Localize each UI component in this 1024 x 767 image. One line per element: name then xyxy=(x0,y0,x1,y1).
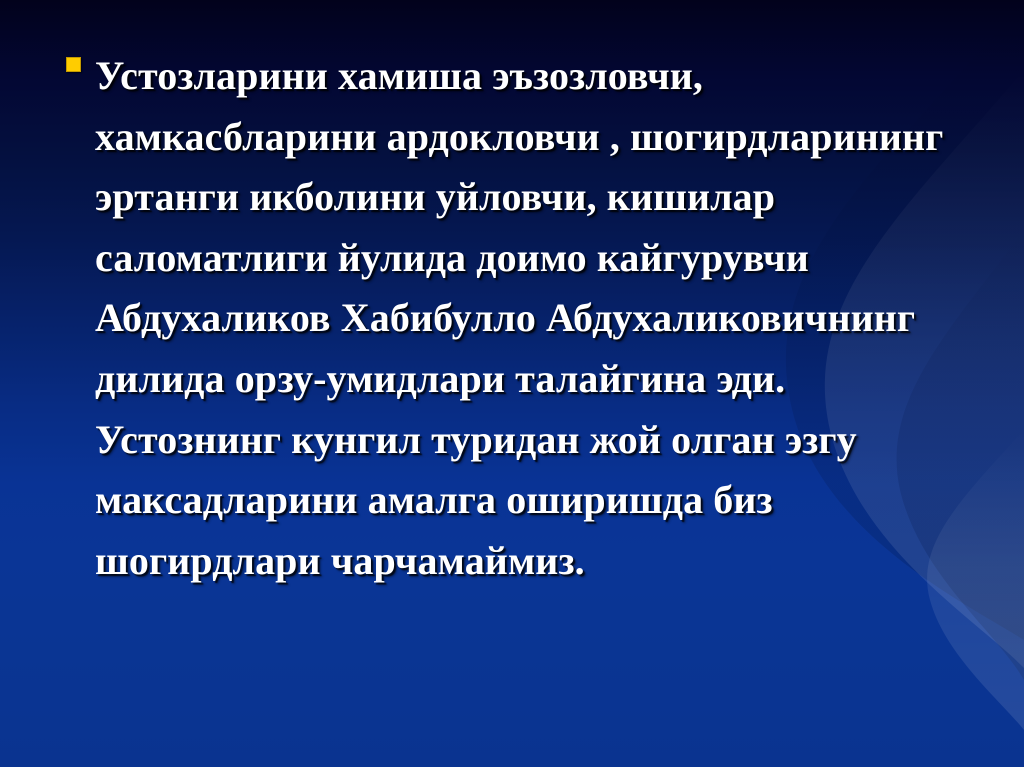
presentation-slide: Устозларини хамиша эъзозловчи, хамкасбла… xyxy=(0,0,1024,767)
square-bullet-icon xyxy=(66,57,81,72)
bullet-list-item: Устозларини хамиша эъзозловчи, хамкасбла… xyxy=(66,46,966,591)
slide-body-text-block: Устозларини хамиша эъзозловчи, хамкасбла… xyxy=(66,46,966,591)
bullet-paragraph-text: Устозларини хамиша эъзозловчи, хамкасбла… xyxy=(66,46,966,591)
